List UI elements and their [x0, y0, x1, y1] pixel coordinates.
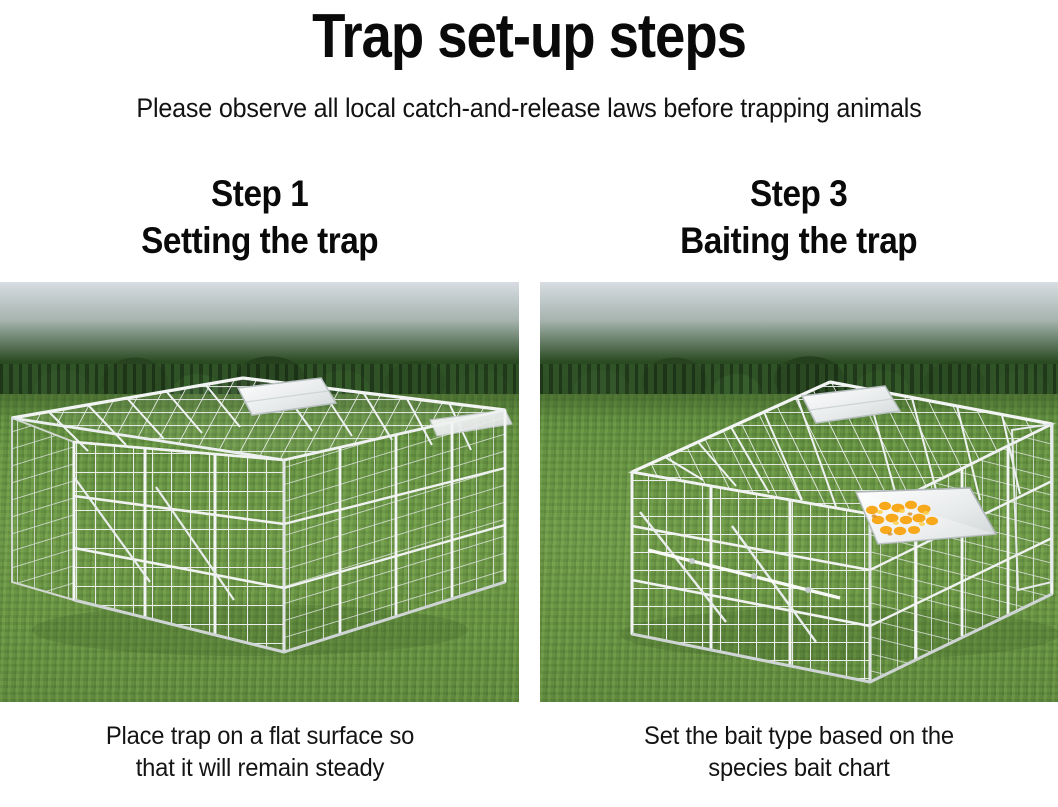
- animal-trap-cage-open: [0, 282, 519, 702]
- step-1-caption-line1: Place trap on a flat surface so: [105, 722, 413, 750]
- step-3-caption-line2: species bait chart: [576, 752, 1023, 785]
- step-1-heading-line1: Step 1: [211, 173, 308, 214]
- step-3-caption: Set the bait type based on the species b…: [576, 720, 1023, 785]
- animal-trap-cage-baited: [540, 282, 1058, 702]
- steps-container: Step 1 Setting the trap: [0, 160, 1058, 807]
- step-3-heading-line2: Baiting the trap: [680, 217, 917, 264]
- page-title: Trap set-up steps: [63, 4, 994, 71]
- step-1-caption: Place trap on a flat surface so that it …: [36, 720, 483, 785]
- step-3-caption-line1: Set the bait type based on the: [644, 722, 954, 750]
- step-column-1: Step 1 Setting the trap: [0, 160, 519, 807]
- step-1-heading: Step 1 Setting the trap: [141, 160, 378, 265]
- step-1-caption-line2: that it will remain steady: [36, 752, 483, 785]
- step-3-photo: [540, 282, 1058, 702]
- step-1-photo: [0, 282, 519, 702]
- step-3-heading: Step 3 Baiting the trap: [680, 160, 917, 265]
- step-3-heading-line1: Step 3: [750, 173, 847, 214]
- page-subtitle: Please observe all local catch-and-relea…: [37, 71, 1021, 124]
- header: Trap set-up steps Please observe all loc…: [0, 0, 1058, 124]
- step-column-3: Step 3 Baiting the trap: [540, 160, 1058, 807]
- step-1-heading-line2: Setting the trap: [141, 217, 378, 264]
- bait-plate: [856, 488, 996, 544]
